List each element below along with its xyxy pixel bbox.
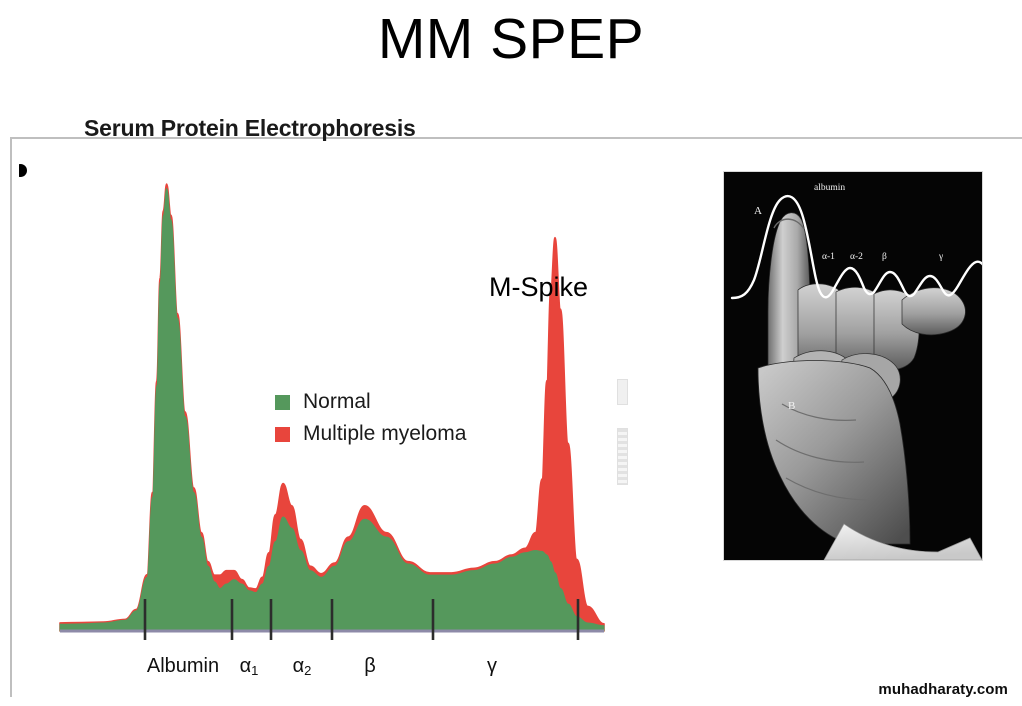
bullet-point-icon [19,163,33,179]
page-title: MM SPEP [0,8,1022,72]
legend-item-multiple-myeloma: Multiple myeloma [275,418,466,450]
hand-photo-svg: albuminAα-1α-2βγB [724,172,982,560]
photo-annotation-4: β [882,252,887,262]
axis-label-4: γ [437,655,547,678]
scan-artifact-lower [617,428,628,485]
chart-legend: Normal Multiple myeloma [275,386,466,450]
photo-annotation-2: α-1 [822,252,835,262]
photo-annotation-5: γ [938,252,943,262]
scan-artifact-upper [617,379,628,405]
header-divider-rule [620,137,1022,139]
legend-swatch-normal [275,395,290,410]
photo-annotation-0: albumin [814,183,845,193]
photo-annotation-6: B [788,400,795,412]
photo-annotation-3: α-2 [850,252,863,262]
hand-mnemonic-photo: albuminAα-1α-2βγB [724,172,982,560]
photo-annotation-1: A [754,205,762,217]
legend-swatch-multiple-myeloma [275,427,290,442]
legend-label-multiple-myeloma: Multiple myeloma [303,422,466,446]
chart-title: Serum Protein Electrophoresis [84,115,416,142]
legend-item-normal: Normal [275,386,466,418]
mspike-annotation-label: M-Spike [489,272,588,303]
slide-canvas: MM SPEP Serum Protein Electrophoresis M-… [0,0,1022,706]
axis-label-3: β [315,655,425,678]
site-watermark: muhadharaty.com [878,681,1008,698]
legend-label-normal: Normal [303,390,371,414]
